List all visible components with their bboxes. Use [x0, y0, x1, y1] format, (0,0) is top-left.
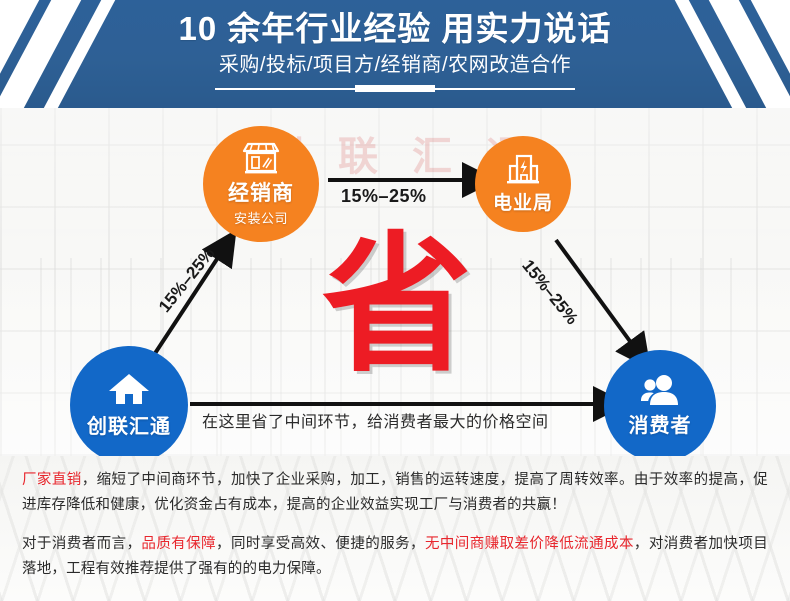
banner-content: 10 余年行业经验 用实力说话 采购/投标/项目方/经销商/农网改造合作 — [0, 0, 790, 108]
users-icon — [639, 374, 681, 406]
node-consumer[interactable]: 消费者 — [604, 350, 716, 456]
paragraph-1-text: ，缩短了中间商环节，加快了企业采购，加工，销售的运转速度，提高了周转效率。由于效… — [22, 472, 768, 513]
arrow-bureau-to-consumer — [556, 240, 632, 344]
description-section: 厂家直销，缩短了中间商环节，加快了企业采购，加工，销售的运转速度，提高了周转效率… — [0, 456, 790, 601]
label-direct-channel-benefit: 在这里省了中间环节，给消费者最大的价格空间 — [202, 408, 549, 432]
paragraph-2-highlight-1: 品质有保障 — [141, 536, 216, 552]
home-icon — [108, 372, 150, 406]
banner-divider — [195, 84, 595, 94]
paragraph-2-highlight-2: 无中间商赚取差价降低流通成本 — [425, 536, 634, 552]
promo-infographic-page: 10 余年行业经验 用实力说话 采购/投标/项目方/经销商/农网改造合作 创联汇… — [0, 0, 790, 601]
node-dealer[interactable]: 经销商 安装公司 — [203, 126, 319, 242]
banner-divider-thick — [355, 85, 435, 92]
node-bureau-title: 电业局 — [493, 188, 553, 215]
diagram-stage: 创联汇通 省 15%–25% 15%–25% 15%–25% 在这里省了中间环节… — [0, 108, 790, 456]
node-dealer-title: 经销商 — [228, 177, 294, 207]
shop-icon — [241, 142, 281, 174]
paragraph-1-highlight: 厂家直销 — [22, 472, 82, 488]
description-paragraph-2: 对于消费者而言，品质有保障，同时享受高效、便捷的服务，无中间商赚取差价降低流通成… — [22, 532, 768, 582]
node-factory-title: 创联汇通 — [87, 410, 171, 439]
description-paragraph-1: 厂家直销，缩短了中间商环节，加快了企业采购，加工，销售的运转速度，提高了周转效率… — [22, 468, 768, 518]
banner-headline: 10 余年行业经验 用实力说话 — [178, 8, 611, 50]
label-dealer-to-bureau-margin: 15%–25% — [341, 186, 427, 207]
power-building-icon — [505, 154, 541, 186]
node-factory[interactable]: 创联汇通 — [70, 346, 188, 456]
paragraph-2-middle: ，同时享受高效、便捷的服务， — [216, 536, 425, 552]
node-dealer-subtitle: 安装公司 — [234, 208, 288, 227]
header-banner: 10 余年行业经验 用实力说话 采购/投标/项目方/经销商/农网改造合作 — [0, 0, 790, 108]
save-character: 省 — [322, 230, 472, 380]
node-consumer-title: 消费者 — [629, 409, 692, 438]
paragraph-2-lead: 对于消费者而言， — [22, 536, 141, 552]
banner-subline: 采购/投标/项目方/经销商/农网改造合作 — [219, 51, 571, 79]
node-bureau[interactable]: 电业局 — [475, 136, 571, 232]
